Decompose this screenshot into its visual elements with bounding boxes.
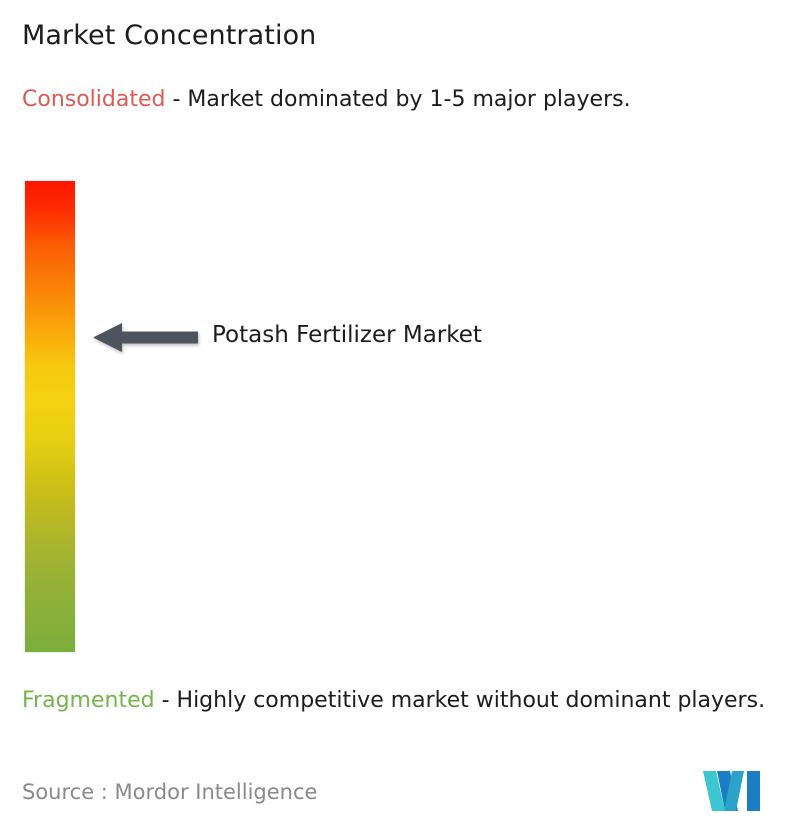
consolidated-description: - Market dominated by 1-5 major players. [172,87,630,112]
mordor-intelligence-logo [703,771,767,811]
fragmented-description: - Highly competitive market without domi… [162,688,765,713]
consolidated-keyword: Consolidated [22,87,165,112]
market-marker-label: Potash Fertilizer Market [212,322,482,348]
concentration-gradient-bar [25,181,75,652]
page-title: Market Concentration [22,20,316,51]
fragmented-caption: Fragmented- Highly competitive market wi… [22,684,790,717]
consolidated-caption: Consolidated- Market dominated by 1-5 ma… [22,83,782,116]
fragmented-keyword: Fragmented [22,688,155,713]
left-arrow-icon [93,321,198,354]
source-attribution: Source : Mordor Intelligence [22,780,317,804]
market-concentration-scale [25,181,75,652]
